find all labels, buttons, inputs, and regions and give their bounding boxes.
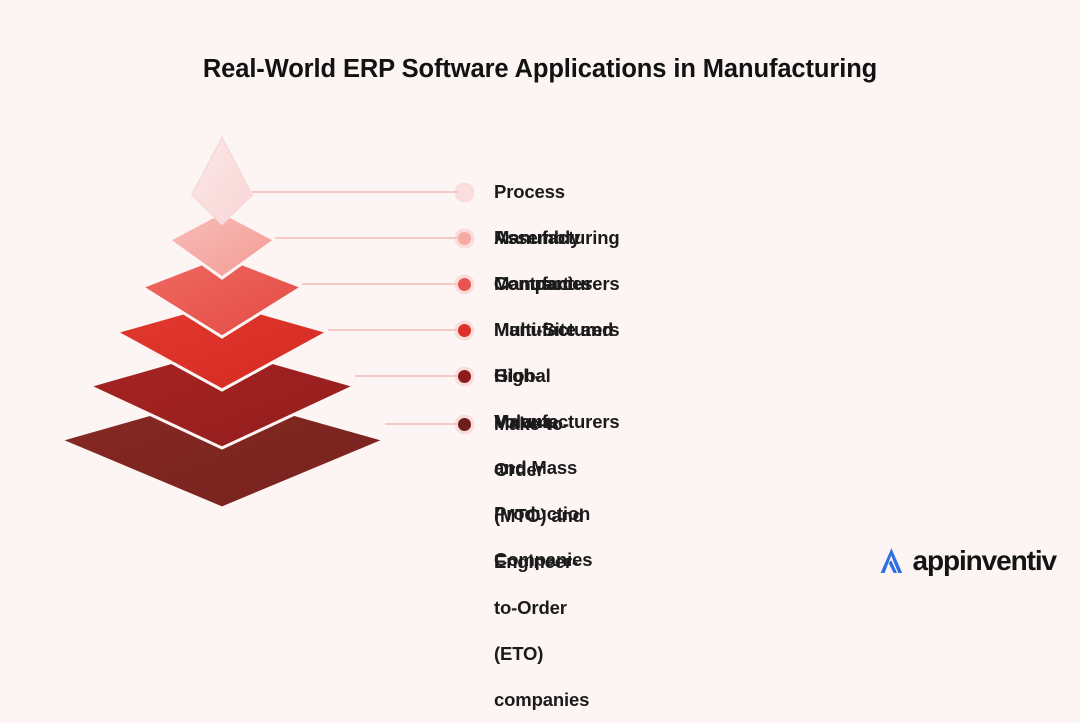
brand-logo-text: appinventiv: [913, 547, 1057, 575]
callout-dot[interactable]: [458, 232, 471, 245]
brand-logo[interactable]: appinventiv: [875, 544, 1057, 577]
callout-dot[interactable]: [458, 278, 471, 291]
callout-dot[interactable]: [458, 418, 471, 431]
callout-dot[interactable]: [458, 370, 471, 383]
callout-line: [355, 375, 460, 376]
callout-line: [302, 283, 460, 284]
callout-line: [252, 191, 460, 192]
appinventiv-a-mark-icon: [875, 544, 908, 577]
infographic-root: Real-World ERP Software Applications in …: [0, 0, 1080, 595]
callout-label: Make-to-Order (MTO) and Engineer-to-Orde…: [494, 401, 589, 723]
callout-line: [385, 423, 460, 424]
callout-dot[interactable]: [458, 186, 471, 199]
callout-line: [328, 329, 460, 330]
callout-list: Process Manufacturing Companies Assembly…: [0, 0, 1080, 595]
callout-line: [275, 237, 460, 238]
callout-dot[interactable]: [458, 324, 471, 337]
